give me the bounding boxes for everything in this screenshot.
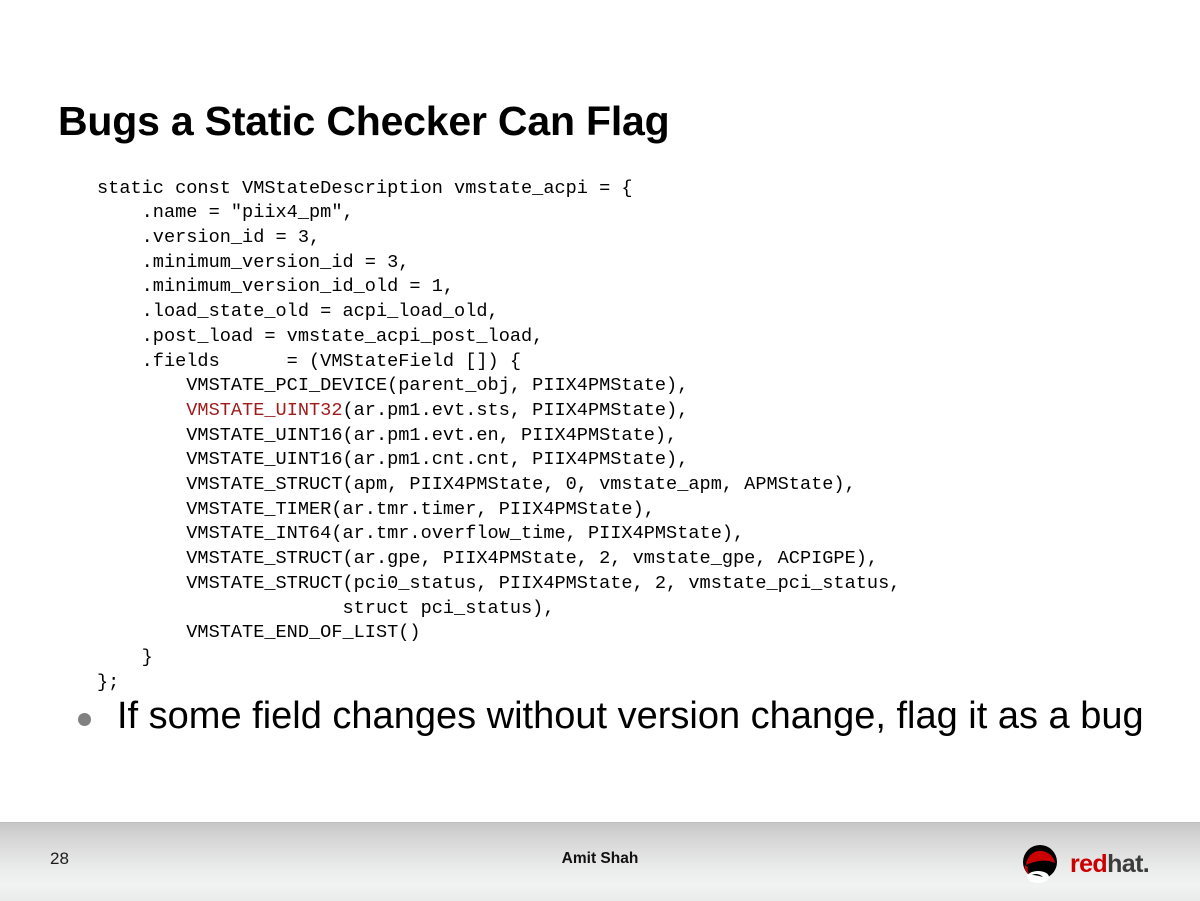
code-indent xyxy=(97,400,186,421)
code-line: VMSTATE_STRUCT(pci0_status, PIIX4PMState… xyxy=(97,573,900,594)
code-line: struct pci_status), xyxy=(97,598,554,619)
redhat-wordmark-red: red xyxy=(1070,850,1107,878)
redhat-wordmark: redhat. xyxy=(1070,852,1149,877)
code-line: VMSTATE_UINT16(ar.pm1.cnt.cnt, PIIX4PMSt… xyxy=(97,449,688,470)
code-line: .minimum_version_id_old = 1, xyxy=(97,276,454,297)
bullet-disc-icon xyxy=(78,713,91,726)
code-line: }; xyxy=(97,672,119,693)
code-line: .load_state_old = acpi_load_old, xyxy=(97,301,499,322)
code-line: .name = "piix4_pm", xyxy=(97,202,354,223)
code-line: .minimum_version_id = 3, xyxy=(97,252,409,273)
code-line-highlighted: VMSTATE_UINT32(ar.pm1.evt.sts, PIIX4PMSt… xyxy=(97,400,688,421)
code-line: } xyxy=(97,647,153,668)
flagged-token: VMSTATE_UINT32 xyxy=(186,400,342,421)
redhat-shadowman-logo-icon xyxy=(1018,844,1066,884)
code-line: VMSTATE_UINT16(ar.pm1.evt.en, PIIX4PMSta… xyxy=(97,425,677,446)
redhat-wordmark-hat: hat. xyxy=(1107,850,1149,878)
code-token-rest: (ar.pm1.evt.sts, PIIX4PMState), xyxy=(342,400,688,421)
code-line: .fields = (VMStateField []) { xyxy=(97,351,521,372)
code-line: .post_load = vmstate_acpi_post_load, xyxy=(97,326,543,347)
bullet-list-item: If some field changes without version ch… xyxy=(78,692,1168,740)
code-line: .version_id = 3, xyxy=(97,227,320,248)
code-line: VMSTATE_END_OF_LIST() xyxy=(97,622,421,643)
code-line: VMSTATE_INT64(ar.tmr.overflow_time, PIIX… xyxy=(97,523,744,544)
code-line: VMSTATE_STRUCT(ar.gpe, PIIX4PMState, 2, … xyxy=(97,548,878,569)
page-title: Bugs a Static Checker Can Flag xyxy=(58,95,669,147)
code-block: static const VMStateDescription vmstate_… xyxy=(97,177,900,696)
slide-canvas: Bugs a Static Checker Can Flag static co… xyxy=(0,0,1200,900)
code-line: VMSTATE_TIMER(ar.tmr.timer, PIIX4PMState… xyxy=(97,499,655,520)
bullet-text: If some field changes without version ch… xyxy=(117,692,1168,740)
slide-footer: 28 Amit Shah redhat. xyxy=(0,822,1200,901)
code-line: VMSTATE_PCI_DEVICE(parent_obj, PIIX4PMSt… xyxy=(97,375,688,396)
code-line: static const VMStateDescription vmstate_… xyxy=(97,178,633,199)
redhat-logo: redhat. xyxy=(1018,841,1178,887)
code-line: VMSTATE_STRUCT(apm, PIIX4PMState, 0, vms… xyxy=(97,474,856,495)
